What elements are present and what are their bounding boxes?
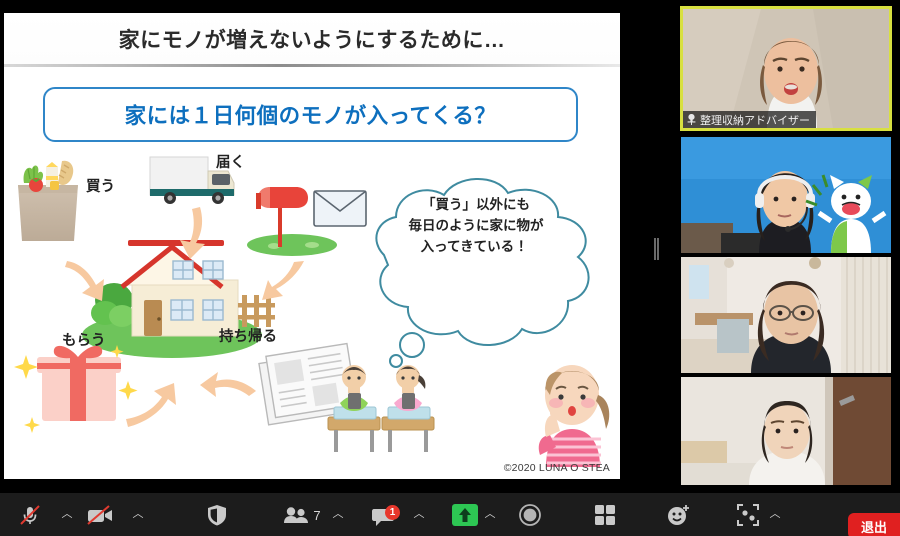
question-text: 家には１日何個のモノが入ってくる？ [125, 99, 497, 130]
participants-count: 7 [313, 508, 320, 523]
grocery-bag-icon [18, 161, 78, 241]
leave-meeting-button[interactable]: 退出 [848, 513, 900, 536]
mute-options-caret[interactable]: ︿ [60, 507, 74, 521]
pin-icon [687, 114, 696, 125]
participant-video-3 [681, 257, 891, 373]
diagram-label-buy: 買う [86, 175, 115, 196]
video-options-caret[interactable]: ︿ [131, 507, 145, 521]
share-screen-button[interactable] [443, 496, 487, 534]
video-tile-3[interactable] [680, 256, 892, 374]
video-button[interactable] [78, 496, 122, 534]
chat-unread-badge: 1 [385, 505, 400, 520]
record-button[interactable] [508, 496, 552, 534]
shield-icon [207, 504, 227, 526]
bubble-line-3: 入ってきている ！ [366, 237, 586, 258]
panel-splitter-handle[interactable] [654, 238, 659, 260]
breakout-rooms-button[interactable] [726, 496, 770, 534]
share-options-caret[interactable]: ︿ [483, 507, 497, 521]
question-box: 家には１日何個のモノが入ってくる？ [43, 87, 578, 142]
breakout-rooms-icon [737, 504, 759, 526]
breakout-options-caret[interactable]: ︿ [768, 507, 782, 521]
video-tile-1[interactable]: 整理収納アドバイザー [680, 6, 892, 131]
gift-box-icon [14, 345, 138, 433]
smiley-plus-icon [667, 504, 691, 526]
security-button[interactable] [195, 496, 239, 534]
record-circle-icon [519, 504, 541, 526]
microphone-muted-icon [19, 504, 41, 526]
chat-button[interactable]: 1 [365, 496, 409, 534]
shared-screen-area[interactable]: 家にモノが増えないようにするために… 家には１日何個のモノが入ってくる？ [0, 0, 672, 492]
participant-name-1: 整理収納アドバイザー [700, 112, 810, 128]
participants-button[interactable]: 7 [272, 496, 332, 534]
slide-header: 家にモノが増えないようにするために… [4, 13, 620, 64]
video-tile-4[interactable] [680, 376, 892, 486]
slide-title: 家にモノが増えないようにするために… [4, 24, 620, 54]
presentation-slide: 家にモノが増えないようにするために… 家には１日何個のモノが入ってくる？ [4, 13, 620, 479]
thought-bubble-text: 「買う」以外にも 毎日のように家に物が 入ってきている ！ [366, 195, 586, 258]
diagram-label-bring-home: 持ち帰る [219, 325, 277, 346]
participant-name-tag-1: 整理収納アドバイザー [683, 111, 816, 128]
participants-icon [283, 506, 309, 524]
bubble-line-1: 「買う」以外にも [366, 195, 586, 216]
meeting-toolbar: ︿ ︿ 7 [0, 492, 900, 536]
diagram-label-receive: もらう [62, 329, 106, 350]
chat-options-caret[interactable]: ︿ [412, 507, 426, 521]
participant-filmstrip: 整理収納アドバイザー [672, 0, 900, 492]
leave-label: 退出 [861, 517, 887, 536]
reactions-button[interactable] [657, 496, 701, 534]
participants-options-caret[interactable]: ︿ [331, 507, 345, 521]
copyright-notice: ©2020 LUNA O STEA [504, 462, 610, 474]
apps-grid-icon [594, 504, 616, 526]
bubble-line-2: 毎日のように家に物が [366, 216, 586, 237]
diagram-label-delivered: 届く [216, 151, 245, 172]
video-tile-2[interactable] [680, 136, 892, 254]
thinking-girl-icon [516, 343, 620, 473]
slide-body: 家には１日何個のモノが入ってくる？ [4, 67, 620, 479]
mute-button[interactable] [8, 496, 52, 534]
participant-video-2 [681, 137, 891, 253]
share-arrow-icon [458, 507, 472, 523]
school-kids-icon [328, 365, 434, 452]
apps-button[interactable] [583, 496, 627, 534]
camera-stopped-icon [87, 505, 113, 525]
participant-video-4 [681, 377, 891, 485]
envelope-icon [314, 191, 366, 226]
zoom-meeting-window: 家にモノが増えないようにするために… 家には１日何個のモノが入ってくる？ [0, 0, 900, 536]
